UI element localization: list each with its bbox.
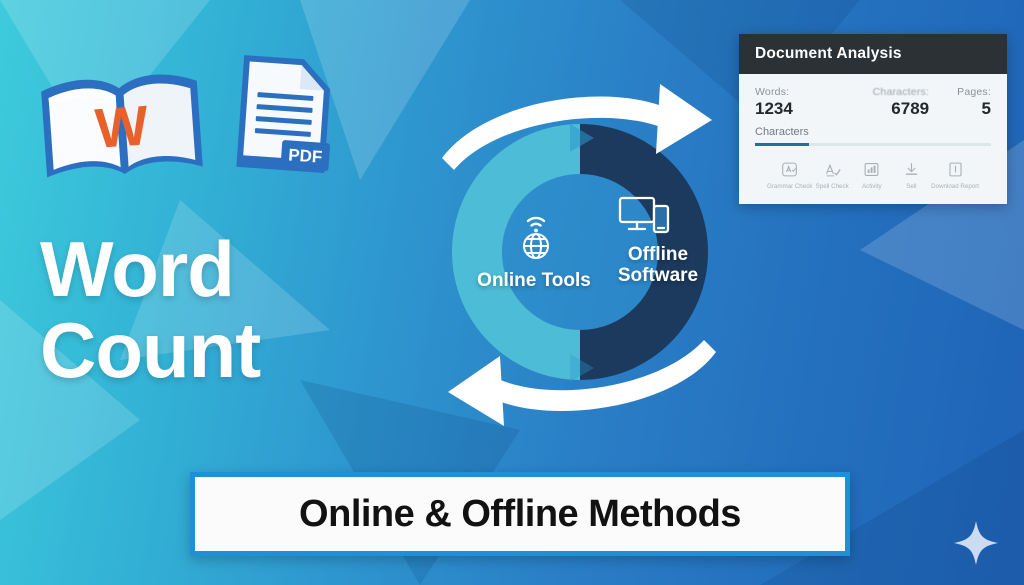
activity-chart-icon — [852, 159, 892, 179]
tool-download-report-label: Download Report — [931, 183, 979, 190]
methods-banner-text: Online & Offline Methods — [299, 493, 741, 536]
tool-row: Grammar Check Spell Check — [755, 146, 991, 190]
progress-track[interactable] — [755, 143, 991, 146]
tool-spell-check-label: Spell Check — [812, 183, 852, 190]
methods-banner-inner: Online & Offline Methods — [195, 477, 845, 551]
stat-characters: Characters: 6789 — [793, 86, 957, 119]
stat-pages-label: Pages: — [957, 86, 991, 98]
stat-pages-value: 5 — [957, 99, 991, 119]
progress-block: Characters — [755, 126, 991, 146]
title-line-2: Count — [40, 313, 260, 388]
tool-sell-label: Sell — [892, 183, 932, 190]
document-analysis-panel: Document Analysis Words: 1234 Characters… — [739, 34, 1007, 204]
svg-text:W: W — [93, 93, 150, 160]
tool-spell-check[interactable]: Spell Check — [812, 159, 852, 190]
download-arrow-icon — [892, 159, 932, 179]
stat-words: Words: 1234 — [755, 86, 793, 119]
stat-pages: Pages: 5 — [957, 86, 991, 119]
stat-words-value: 1234 — [755, 99, 793, 119]
methods-banner: Online & Offline Methods — [190, 472, 850, 556]
stats-row: Words: 1234 Characters: 6789 Pages: 5 — [755, 86, 991, 119]
panel-body: Words: 1234 Characters: 6789 Pages: 5 Ch… — [739, 74, 1007, 190]
report-document-icon — [931, 159, 979, 179]
progress-label: Characters — [755, 126, 991, 138]
grammar-check-icon — [767, 159, 812, 179]
stat-characters-label: Characters: — [793, 86, 929, 98]
title-line-1: Word — [40, 232, 260, 307]
tool-grammar-check-label: Grammar Check — [767, 183, 812, 190]
globe-wifi-icon — [512, 210, 560, 262]
monitor-phone-icon — [618, 194, 670, 236]
tool-grammar-check[interactable]: Grammar Check — [767, 159, 812, 190]
page-title: Word Count — [40, 232, 260, 388]
pdf-file-icon: PDF — [230, 49, 339, 185]
stat-words-label: Words: — [755, 86, 793, 98]
cycle-label-offline: Offline Software — [588, 244, 728, 287]
stat-characters-value: 6789 — [793, 99, 929, 119]
cycle-diagram: Online Tools Offline Software — [420, 62, 740, 442]
sparkle-star-icon — [953, 520, 999, 571]
tool-activity[interactable]: Activity — [852, 159, 892, 190]
spell-check-icon — [812, 159, 852, 179]
tool-download-report[interactable]: Download Report — [931, 159, 979, 190]
cycle-label-online-text: Online Tools — [477, 270, 591, 291]
word-book-icon: W — [34, 62, 212, 197]
progress-fill — [755, 143, 809, 146]
pdf-label: PDF — [288, 145, 323, 166]
document-icons-group: W PDF — [34, 52, 334, 192]
tool-activity-label: Activity — [852, 183, 892, 190]
cycle-label-offline-line2: Software — [618, 265, 698, 286]
panel-title: Document Analysis — [739, 34, 1007, 74]
tool-sell[interactable]: Sell — [892, 159, 932, 190]
cycle-label-offline-line1: Offline — [628, 244, 688, 265]
